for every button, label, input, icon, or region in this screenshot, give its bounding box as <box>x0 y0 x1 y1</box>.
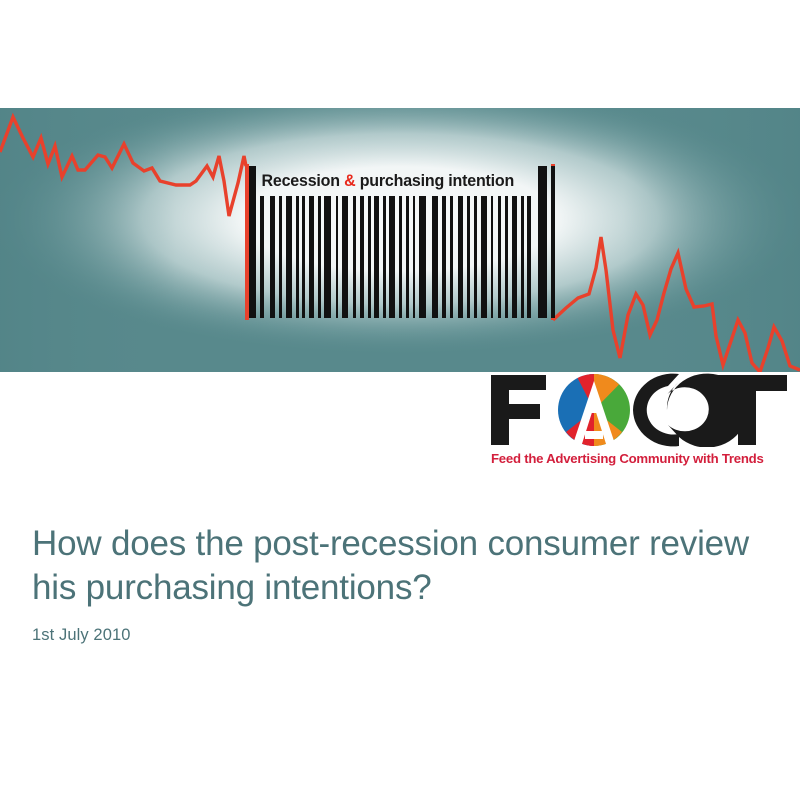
fact-logo: Feed the Advertising Community with Tren… <box>489 373 789 475</box>
logo-tagline: Feed the Advertising Community with Tren… <box>491 451 789 466</box>
barcode-bars <box>246 166 558 318</box>
logo-a-crossbar-white <box>585 431 603 439</box>
fact-wordmark <box>489 373 789 447</box>
title-block: How does the post-recession consumer rev… <box>32 522 762 644</box>
barcode-graphic: Recession & purchasing intention <box>246 166 558 318</box>
logo-letter-a-mark <box>558 374 630 447</box>
page-date: 1st July 2010 <box>32 627 762 644</box>
hero-banner: Recession & purchasing intention <box>0 108 800 372</box>
logo-letter-f <box>491 375 546 445</box>
page-title: How does the post-recession consumer rev… <box>32 522 762 610</box>
